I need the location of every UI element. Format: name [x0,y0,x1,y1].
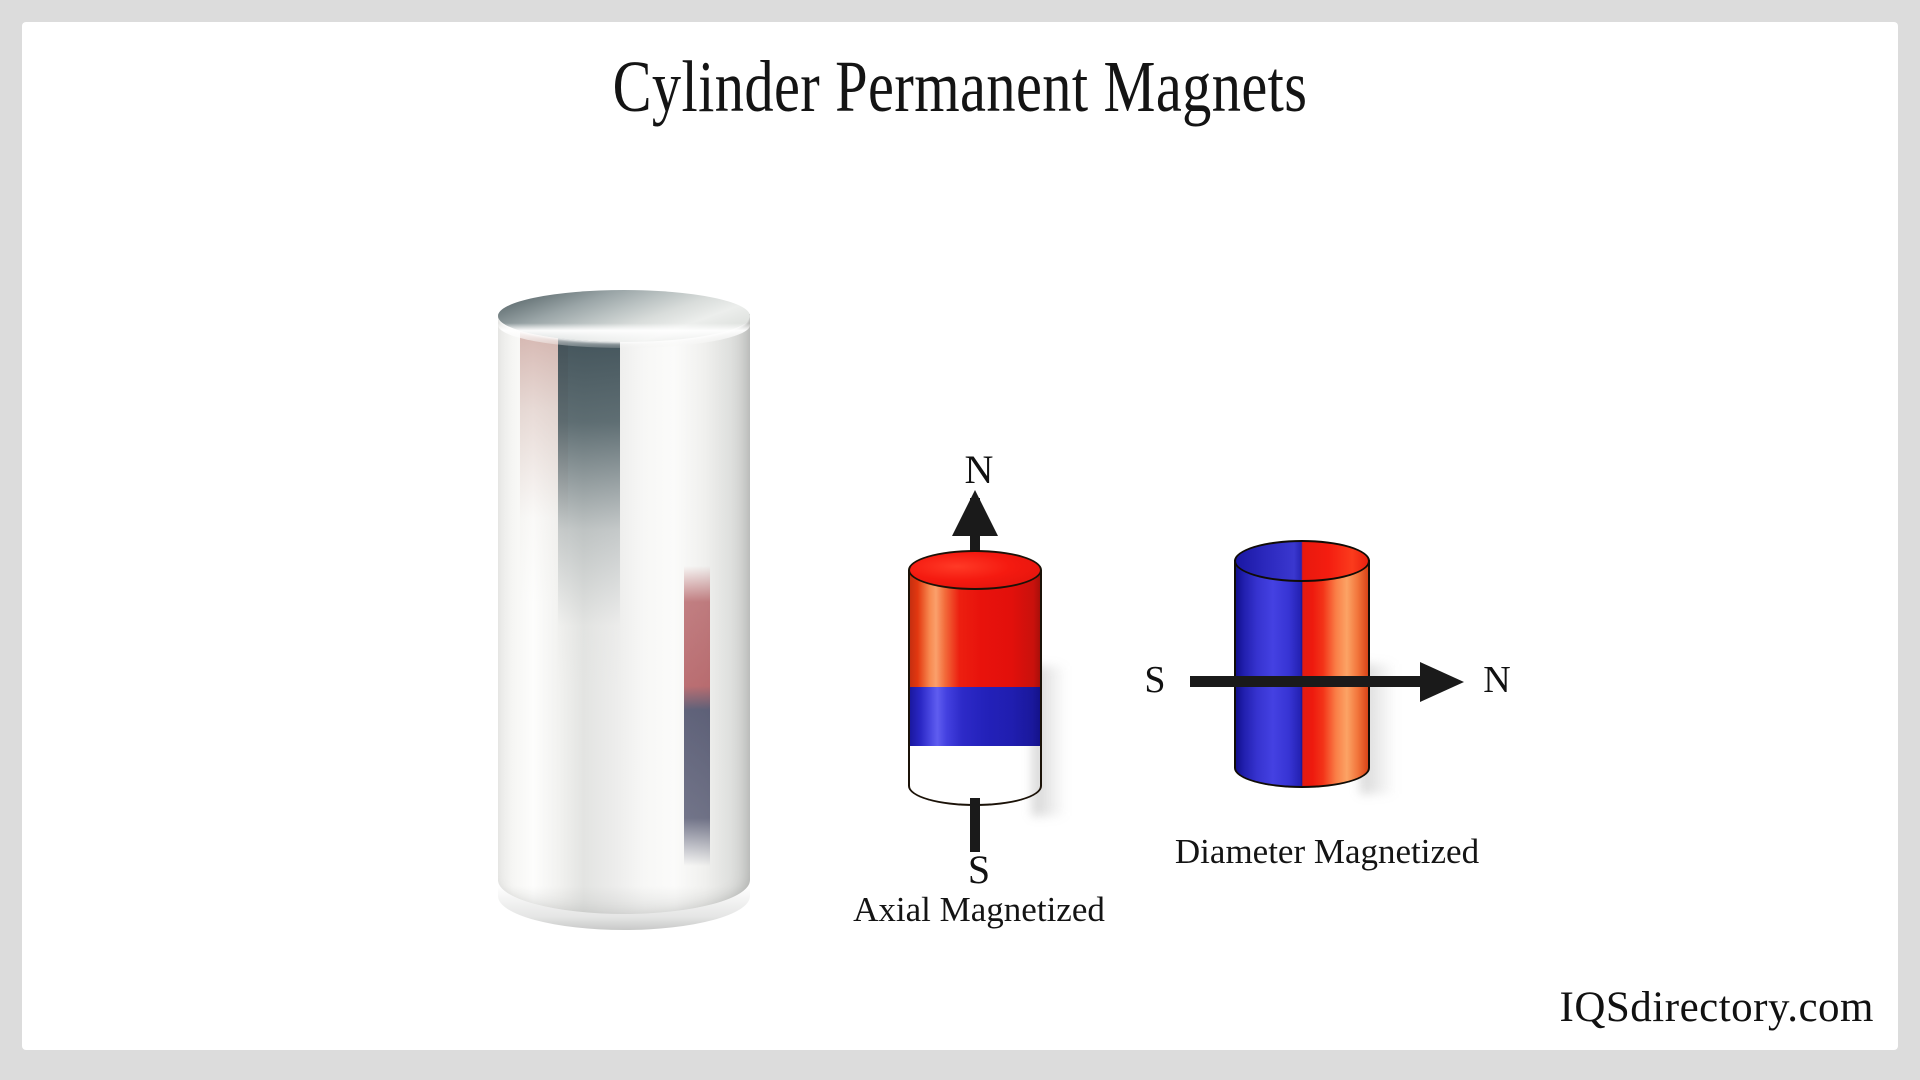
chrome-cylinder-body [498,314,750,914]
diameter-cylinder-body [1234,560,1370,788]
axial-caption: Axial Magnetized [784,890,1174,930]
diameter-north-pole-label: N [1472,658,1522,702]
diameter-south-pole-label: S [1130,658,1180,702]
diameter-magnetized-diagram: S N Diameter Magnetized [1172,534,1482,864]
axial-cylinder-body [908,570,1042,806]
axial-magnetized-diagram: N S Axial Magnetized [884,446,1074,866]
axial-cylinder-top-face [908,550,1042,590]
diameter-arrow-shaft-icon [1190,676,1430,687]
watermark-text: IQSdirectory.com [1560,983,1874,1032]
content-card: Cylinder Permanent Magnets N S Axial Mag… [22,22,1898,1050]
page-root: Cylinder Permanent Magnets N S Axial Mag… [0,0,1920,1080]
axial-arrow-head-icon [952,490,998,536]
diameter-arrow-head-icon [1420,662,1464,702]
page-title: Cylinder Permanent Magnets [210,50,1711,123]
chrome-cylinder-photo [498,290,750,930]
diameter-cylinder-top-face [1234,540,1370,582]
axial-south-pole-label: S [884,846,1074,893]
diameter-caption: Diameter Magnetized [1112,832,1542,872]
chrome-cylinder-top-face [498,290,750,342]
axial-arrow-tail-icon [970,798,980,852]
axial-north-pole-label: N [884,446,1074,493]
